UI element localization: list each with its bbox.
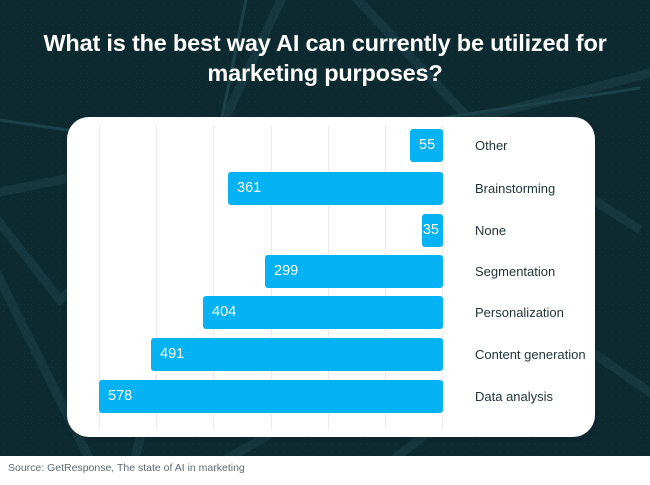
category-label-brainstorming: Brainstorming	[475, 168, 555, 209]
bar-other[interactable]: 55	[410, 129, 443, 162]
bar-data-analysis[interactable]: 578	[99, 380, 443, 413]
bar-row: 35	[99, 210, 443, 251]
bar-row: 578	[99, 376, 443, 417]
category-label-content-generation: Content generation	[475, 334, 586, 375]
bar-row: 55	[99, 125, 443, 166]
bar-row: 404	[99, 292, 443, 333]
category-label-personalization: Personalization	[475, 292, 564, 333]
bar-value-label: 578	[108, 380, 132, 413]
bar-personalization[interactable]: 404	[203, 296, 443, 329]
bar-value-label: 35	[423, 214, 439, 247]
bar-brainstorming[interactable]: 361	[228, 172, 443, 205]
category-label-data-analysis: Data analysis	[475, 376, 553, 417]
plot-area: 55 361 35 299 404	[99, 125, 443, 429]
bar-row: 299	[99, 251, 443, 292]
bar-segmentation[interactable]: 299	[265, 255, 443, 288]
bar-value-label: 299	[274, 255, 298, 288]
page-title: What is the best way AI can currently be…	[35, 28, 615, 88]
bar-none[interactable]: 35	[422, 214, 443, 247]
category-label-other: Other	[475, 125, 508, 166]
category-label-none: None	[475, 210, 506, 251]
bar-row: 361	[99, 168, 443, 209]
bar-value-label: 404	[212, 296, 236, 329]
infographic-canvas: What is the best way AI can currently be…	[0, 0, 650, 485]
bar-value-label: 55	[419, 129, 435, 162]
category-label-segmentation: Segmentation	[475, 251, 555, 292]
source-attribution: Source: GetResponse, The state of AI in …	[8, 462, 245, 474]
bar-value-label: 361	[237, 172, 261, 205]
bar-value-label: 491	[160, 338, 184, 371]
chart-card: 55 361 35 299 404	[67, 117, 595, 437]
bar-content-generation[interactable]: 491	[151, 338, 443, 371]
bar-row: 491	[99, 334, 443, 375]
source-bar: Source: GetResponse, The state of AI in …	[0, 456, 650, 485]
